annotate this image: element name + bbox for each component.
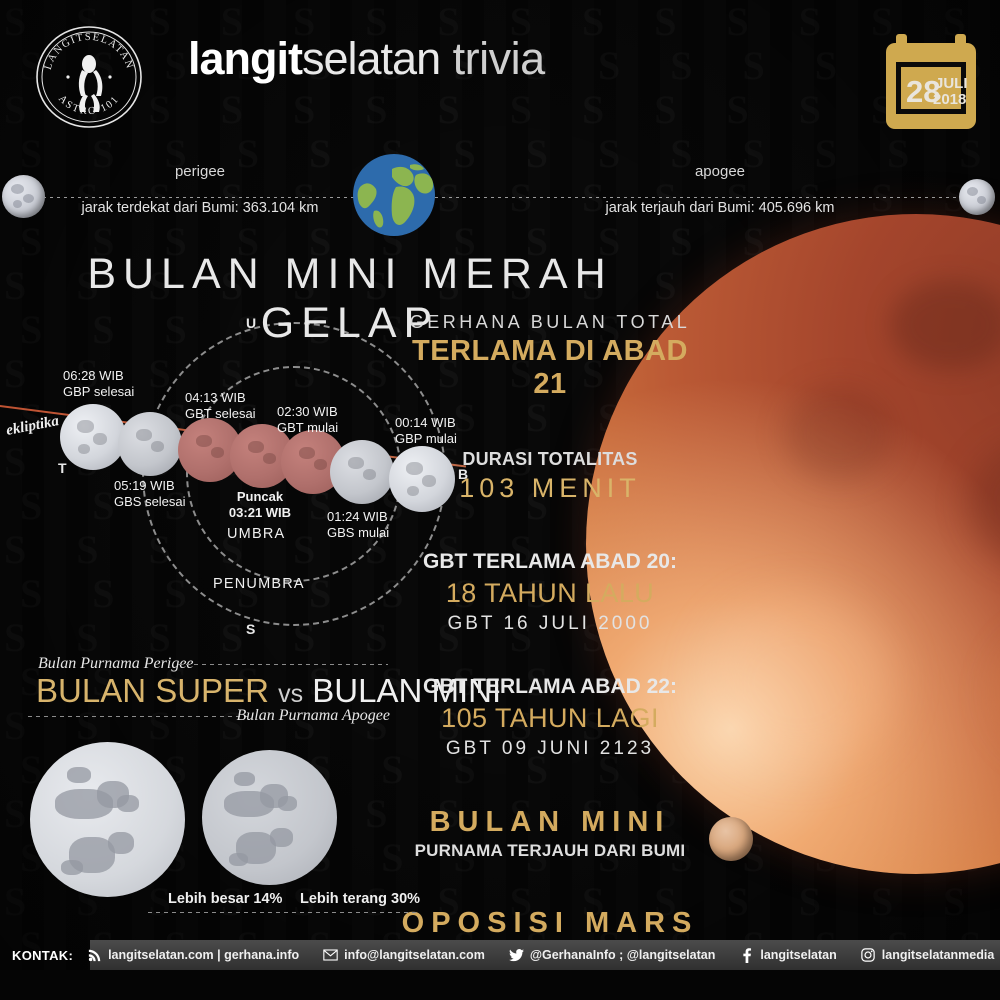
earth-icon [352, 153, 436, 237]
compare-title-gold: BULAN SUPER [36, 672, 269, 709]
footer-item-twitter[interactable]: @GerhanaInfo ; @langitselatan [509, 948, 716, 963]
langitselatan-logo: LANGITSELATAN ASTRO 101 [24, 22, 154, 132]
apogee-label: apogee [640, 163, 800, 180]
footer-item-website[interactable]: langitselatan.com | gerhana.info [87, 948, 299, 963]
footer-website-text: langitselatan.com | gerhana.info [108, 948, 299, 962]
calendar-month: JULI [935, 75, 968, 92]
perigee-distance: jarak terdekat dari Bumi: 363.104 km [80, 200, 320, 216]
phase-event-1: GBS selesai [114, 494, 186, 509]
phase-label-4: 01:24 WIB GBS mulai [327, 509, 389, 541]
svg-text:ASTRO 101: ASTRO 101 [56, 93, 122, 117]
stat-block-headline: GERHANA BULAN TOTAL TERLAMA DI ABAD 21 [400, 312, 700, 401]
stats-column: GERHANA BULAN TOTAL TERLAMA DI ABAD 21 D… [400, 312, 700, 982]
footer-contact-bar: KONTAK: langitselatan.com | gerhana.info… [0, 940, 1000, 970]
phase-event-0: GBP selesai [63, 384, 134, 399]
duration-label: DURASI TOTALITAS [400, 449, 700, 470]
footer-item-email[interactable]: info@langitselatan.com [323, 948, 485, 963]
phase-time-4: 01:24 WIB [327, 509, 388, 524]
stats-headline: TERLAMA DI ABAD 21 [400, 335, 700, 401]
axis-label-south: S [246, 621, 255, 637]
mars-planet-image [709, 817, 753, 861]
stat-block-century20: GBT TERLAMA ABAD 20: 18 TAHUN LALU GBT 1… [400, 550, 700, 635]
century20-value: 18 TAHUN LALU [400, 578, 700, 609]
century20-date: GBT 16 JULI 2000 [400, 613, 700, 635]
phase-time-3: 02:30 WIB [277, 404, 338, 419]
axis-label-west: T [58, 460, 67, 476]
phase-label-0: 06:28 WIB GBP selesai [63, 368, 134, 400]
compare-note-dash-left [148, 912, 420, 913]
phase-event-4: GBS mulai [327, 525, 389, 540]
compare-note-left: Lebih besar 14% [168, 891, 282, 907]
duration-value: 103 MENIT [400, 473, 700, 504]
mars-title: OPOSISI MARS [400, 907, 700, 940]
phase-time-2: 04:13 WIB [185, 390, 246, 405]
minimoon-title: BULAN MINI [400, 806, 700, 839]
stat-block-minimoon: BULAN MINI PURNAMA TERJAUH DARI BUMI [400, 806, 700, 861]
page-title: langitselatan trivia [188, 36, 545, 81]
penumbra-label: PENUMBRA [213, 576, 305, 592]
apogee-moon-icon [959, 179, 995, 215]
stats-kicker: GERHANA BULAN TOTAL [400, 312, 700, 333]
peak-time: 03:21 WIB [229, 505, 291, 520]
axis-label-north: U [246, 315, 256, 331]
century22-value: 105 TAHUN LAGI [400, 703, 700, 734]
supermoon-disk [30, 742, 185, 897]
footer-facebook-text: langitselatan [760, 948, 836, 962]
twitter-icon [509, 948, 524, 963]
compare-kicker-right: Bulan Purnama Apogee [237, 707, 390, 725]
calendar-year: 2018 [933, 91, 966, 108]
perigee-moon-icon [2, 175, 45, 218]
footer-kontak-label: KONTAK: [0, 948, 73, 963]
phase-label-3: 02:30 WIB GBT mulai [277, 404, 338, 436]
minimoon-disk [202, 750, 337, 885]
footer-item-facebook[interactable]: langitselatan [739, 948, 836, 963]
phase-time-1: 05:19 WIB [114, 478, 175, 493]
stat-block-century22: GBT TERLAMA ABAD 22: 105 TAHUN LAGI GBT … [400, 675, 700, 760]
compare-note-right: Lebih terang 30% [300, 891, 420, 907]
stat-block-duration: DURASI TOTALITAS 103 MENIT [400, 449, 700, 504]
infographic-page: S S S S S S S S S S S S S S S S S S S S … [0, 0, 1000, 1000]
title-bold: langit [188, 33, 302, 84]
phase-time-0: 06:28 WIB [63, 368, 124, 383]
calendar-icon: 28 JULI 2018 [884, 30, 978, 132]
perigee-label: perigee [120, 163, 280, 180]
umbra-label: UMBRA [227, 526, 285, 542]
phase-event-2: GBT selesai [185, 406, 256, 421]
instagram-icon [861, 948, 876, 963]
compare-title-vs: vs [278, 680, 303, 708]
phase-event-3: GBT mulai [277, 420, 338, 435]
facebook-icon [739, 948, 754, 963]
minimoon-caption: PURNAMA TERJAUH DARI BUMI [400, 841, 700, 861]
phase-label-1: 05:19 WIB GBS selesai [114, 478, 186, 510]
footer-email-text: info@langitselatan.com [344, 948, 485, 962]
title-trivia: trivia [453, 33, 545, 84]
orbit-dotted-line [22, 196, 978, 198]
century22-date: GBT 09 JUNI 2123 [400, 738, 700, 760]
phase-moon-gbp-selesai [60, 404, 126, 470]
century20-label: GBT TERLAMA ABAD 20: [400, 550, 700, 574]
phase-moon-gbs-selesai [118, 412, 182, 476]
footer-base [0, 970, 1000, 1000]
phase-label-2: 04:13 WIB GBT selesai [185, 390, 256, 422]
compare-kicker-right-dash [28, 716, 248, 717]
century22-label: GBT TERLAMA ABAD 22: [400, 675, 700, 699]
compare-kicker-left-dash [178, 664, 388, 665]
title-thin: selatan [302, 33, 440, 84]
peak-label: Puncak 03:21 WIB [225, 489, 295, 521]
mail-icon [323, 948, 338, 963]
apogee-distance: jarak terjauh dari Bumi: 405.696 km [600, 200, 840, 216]
compare-kicker-left: Bulan Purnama Perigee [38, 655, 194, 673]
rss-icon [87, 948, 102, 963]
peak-word: Puncak [237, 489, 283, 504]
supermoon-comparison: Bulan Purnama Perigee BULAN SUPER vs BUL… [0, 655, 420, 920]
footer-item-instagram[interactable]: langitselatanmedia [861, 948, 995, 963]
phase-moon-gbs-mulai [330, 440, 394, 504]
footer-instagram-text: langitselatanmedia [882, 948, 995, 962]
footer-twitter-text: @GerhanaInfo ; @langitselatan [530, 948, 716, 962]
